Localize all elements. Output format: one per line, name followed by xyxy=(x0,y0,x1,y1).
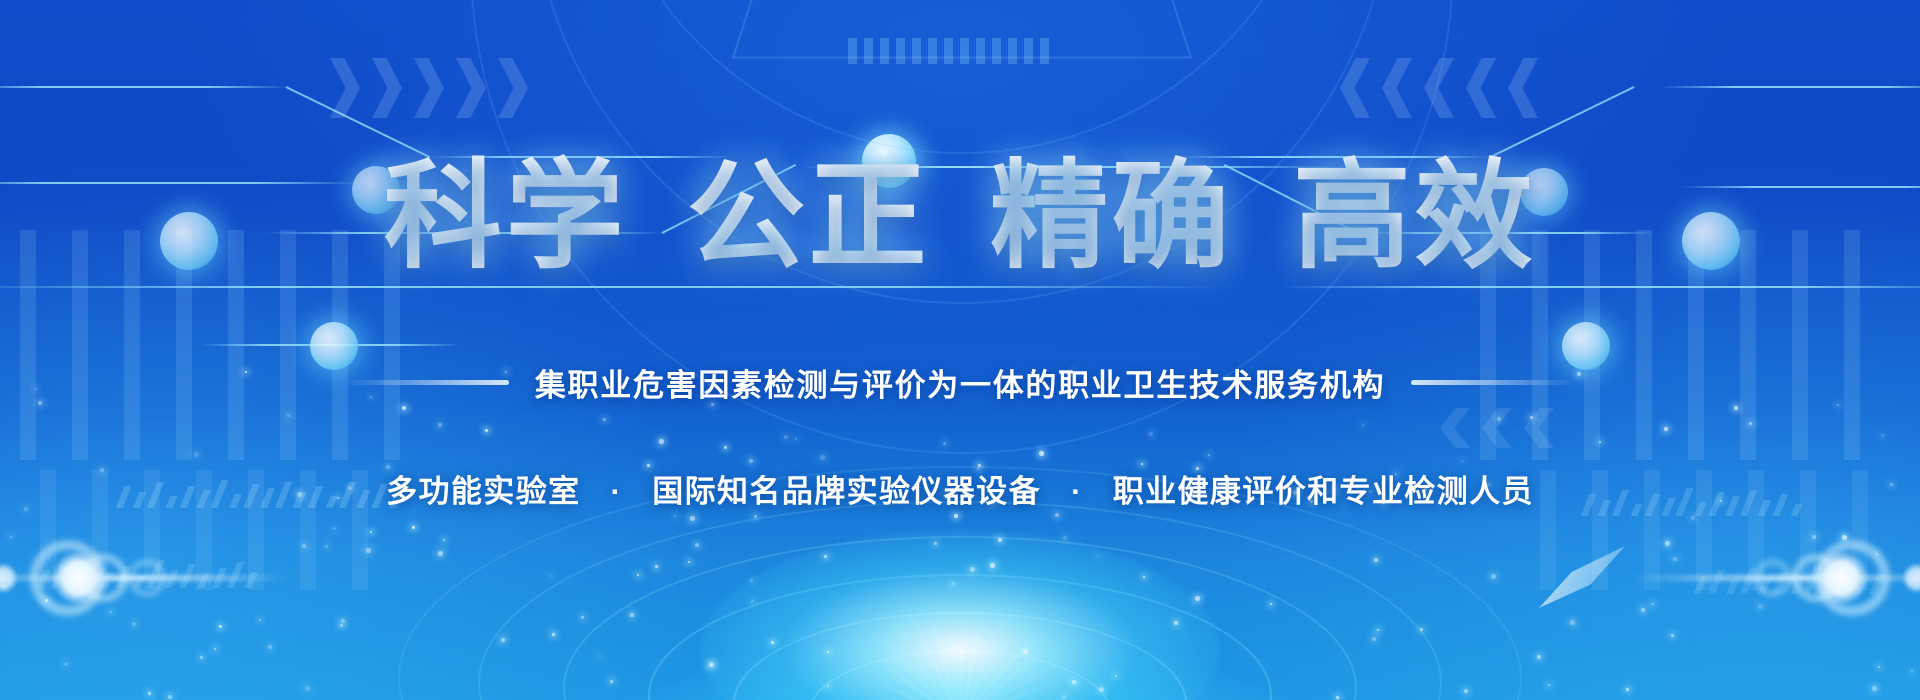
headline: 科学 公正 精确 高效 xyxy=(0,150,1920,285)
headline-word-3: 精确 xyxy=(978,150,1245,285)
tagline-item-3: 职业健康评价和专业检测人员 xyxy=(1113,474,1534,509)
subtitle-row: 集职业危害因素检测与评价为一体的职业卫生技术服务机构 xyxy=(0,360,1920,405)
tagline-separator-2: · xyxy=(1051,474,1103,509)
tagline-item-1: 多功能实验室 xyxy=(386,474,580,509)
tagline-separator-1: · xyxy=(591,474,643,509)
banner-stage: 科学 公正 精确 高效 集职业危害因素检测与评价为一体的职业卫生技术服务机构 多… xyxy=(0,0,1920,700)
tagline: 多功能实验室 · 国际知名品牌实验仪器设备 · 职业健康评价和专业检测人员 xyxy=(0,466,1920,511)
banner-content: 科学 公正 精确 高效 集职业危害因素检测与评价为一体的职业卫生技术服务机构 多… xyxy=(0,0,1920,700)
subtitle-rule-left xyxy=(344,380,509,385)
headline-word-4: 高效 xyxy=(1281,150,1548,285)
subtitle: 集职业危害因素检测与评价为一体的职业卫生技术服务机构 xyxy=(535,360,1385,405)
tagline-item-2: 国际知名品牌实验仪器设备 xyxy=(652,474,1041,509)
headline-word-2: 公正 xyxy=(675,150,942,285)
headline-word-1: 科学 xyxy=(372,150,639,285)
subtitle-rule-right xyxy=(1411,380,1576,385)
